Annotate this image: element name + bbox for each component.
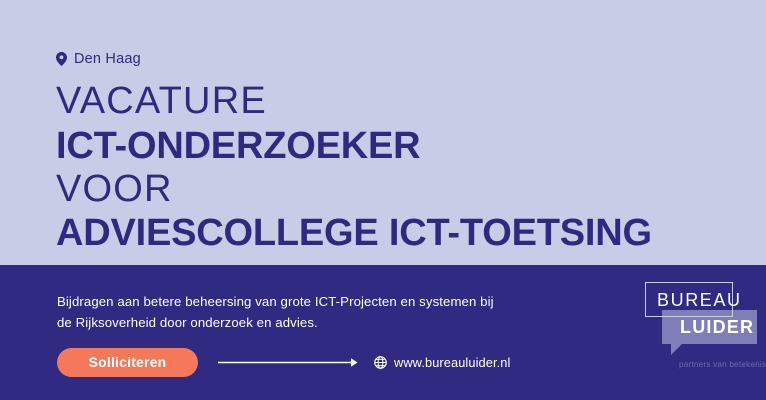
map-pin-icon	[56, 52, 67, 66]
banner-top-panel: Den Haag VACATURE ICT-ONDERZOEKER VOOR A…	[0, 0, 766, 265]
globe-icon	[374, 356, 387, 369]
headline-block: VACATURE ICT-ONDERZOEKER VOOR ADVIESCOLL…	[56, 78, 756, 256]
logo-luider-box: LUIDER	[662, 310, 757, 344]
headline-line-job-title: ICT-ONDERZOEKER	[56, 124, 756, 168]
body-copy-line-1: Bijdragen aan betere beheersing van grot…	[57, 291, 602, 312]
cta-row: Solliciteren www.bureaul	[57, 347, 510, 377]
website-link[interactable]: www.bureauluider.nl	[374, 355, 510, 370]
logo-bureau-luider[interactable]: BUREAU LUIDER partners van betekenis	[645, 282, 757, 382]
headline-line-organisation: ADVIESCOLLEGE ICT-TOETSING	[56, 210, 756, 256]
logo-word-bureau: BUREAU	[657, 290, 742, 310]
speech-bubble-tail-icon	[671, 344, 682, 355]
arrow-right-icon	[218, 357, 358, 368]
location-label: Den Haag	[74, 51, 141, 67]
logo-tagline: partners van betekenis	[679, 360, 766, 369]
banner-bottom-panel: Bijdragen aan betere beheersing van grot…	[0, 265, 766, 400]
location-tag: Den Haag	[56, 49, 141, 69]
website-url-label: www.bureauluider.nl	[394, 355, 510, 370]
headline-line-voor: VOOR	[56, 168, 756, 210]
logo-word-luider: LUIDER	[680, 317, 754, 337]
apply-button[interactable]: Solliciteren	[57, 348, 198, 377]
body-copy: Bijdragen aan betere beheersing van grot…	[57, 291, 602, 333]
body-copy-line-2: de Rijksoverheid door onderzoek en advie…	[57, 312, 602, 333]
headline-line-vacature: VACATURE	[56, 78, 756, 124]
vacancy-banner: Den Haag VACATURE ICT-ONDERZOEKER VOOR A…	[0, 0, 766, 400]
